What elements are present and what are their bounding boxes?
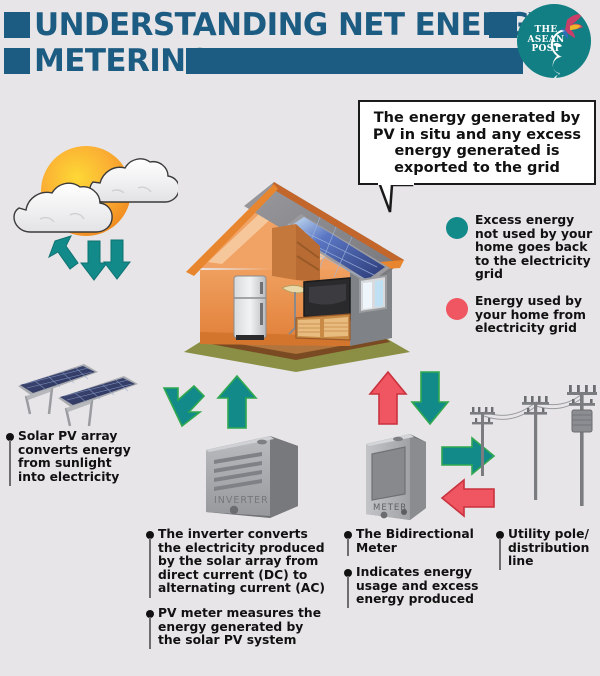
header-square-left-top	[4, 12, 30, 38]
legend-label-excess: Excess energy not used by your home goes…	[475, 214, 600, 282]
refrigerator-icon	[234, 276, 266, 340]
caption-utility-pole: Utility pole/ distribution line	[496, 528, 600, 580]
window-icon	[360, 276, 386, 312]
logo-text: THE ASEAN POST	[526, 26, 566, 55]
transformer-icon	[572, 410, 592, 432]
header-square-left-bottom	[4, 48, 30, 74]
house-partition	[272, 224, 296, 280]
page-title-line2: METERING	[34, 46, 210, 77]
arrow-up-teal-icon	[216, 374, 258, 430]
caption-connector-line	[149, 538, 151, 598]
legend-item-used: Energy used by your home from electricit…	[446, 295, 600, 347]
caption-item: Utility pole/ distribution line	[496, 528, 600, 569]
caption-item: The inverter converts the electricity pr…	[146, 528, 328, 596]
caption-text: PV meter measures the energy generated b…	[158, 607, 328, 648]
caption-item: The Bidirectional Meter	[344, 528, 484, 555]
caption-item: Solar PV array converts energy from sunl…	[6, 430, 138, 484]
header: UNDERSTANDING NET ENERGY METERING THE AS…	[0, 0, 600, 86]
utility-poles-illustration	[462, 378, 598, 506]
pole-left	[470, 407, 495, 476]
meter-device: METER	[358, 428, 438, 526]
caption-connector-line	[347, 538, 349, 556]
meter-screen	[372, 447, 405, 500]
inverter-label: INVERTER	[214, 495, 269, 506]
legend-dot-teal	[446, 217, 468, 239]
legend-item-excess: Excess energy not used by your home goes…	[446, 214, 600, 282]
caption-connector-line	[149, 617, 151, 649]
header-accent-bar	[186, 48, 523, 74]
caption-connector-line	[499, 538, 501, 570]
page-title-line1: UNDERSTANDING NET ENERGY	[34, 10, 550, 41]
legend-label-used: Energy used by your home from electricit…	[475, 295, 600, 336]
sunlight-arrows-icon	[49, 236, 130, 280]
television-icon	[304, 278, 350, 320]
legend: Excess energy not used by your home goes…	[446, 214, 600, 360]
sun-and-clouds-illustration	[8, 136, 178, 291]
solar-panel-front	[58, 376, 138, 426]
caption-text: Indicates energy usage and excess energy…	[356, 566, 484, 607]
cabinet-icon	[296, 314, 350, 340]
caption-item: Indicates energy usage and excess energy…	[344, 566, 484, 607]
legend-dot-red	[446, 298, 468, 320]
arrow-diagonal-down-right-icon	[156, 374, 212, 430]
caption-meter: The Bidirectional Meter Indicates energy…	[344, 528, 484, 618]
caption-solar-array: Solar PV array converts energy from sunl…	[6, 430, 138, 495]
caption-text: Solar PV array converts energy from sunl…	[18, 430, 138, 484]
caption-connector-line	[9, 440, 11, 486]
pole-middle	[522, 396, 549, 500]
infographic-canvas: UNDERSTANDING NET ENERGY METERING THE AS…	[0, 0, 600, 676]
inverter-device: INVERTER	[200, 428, 310, 526]
callout-text: The energy generated by PV in situ and a…	[367, 110, 587, 176]
caption-text: The inverter converts the electricity pr…	[158, 528, 328, 596]
house-cutaway-illustration	[178, 172, 416, 377]
solar-pv-array-illustration	[6, 358, 142, 428]
caption-text: The Bidirectional Meter	[356, 528, 484, 555]
caption-item: PV meter measures the energy generated b…	[146, 607, 328, 648]
arrow-down-teal-icon	[410, 370, 450, 426]
caption-connector-line	[347, 576, 349, 608]
caption-text: Utility pole/ distribution line	[508, 528, 600, 569]
arrow-up-red-icon	[368, 370, 408, 426]
the-asean-post-logo: THE ASEAN POST	[517, 4, 591, 78]
caption-inverter: The inverter converts the electricity pr…	[146, 528, 328, 659]
pole-right	[567, 385, 597, 506]
